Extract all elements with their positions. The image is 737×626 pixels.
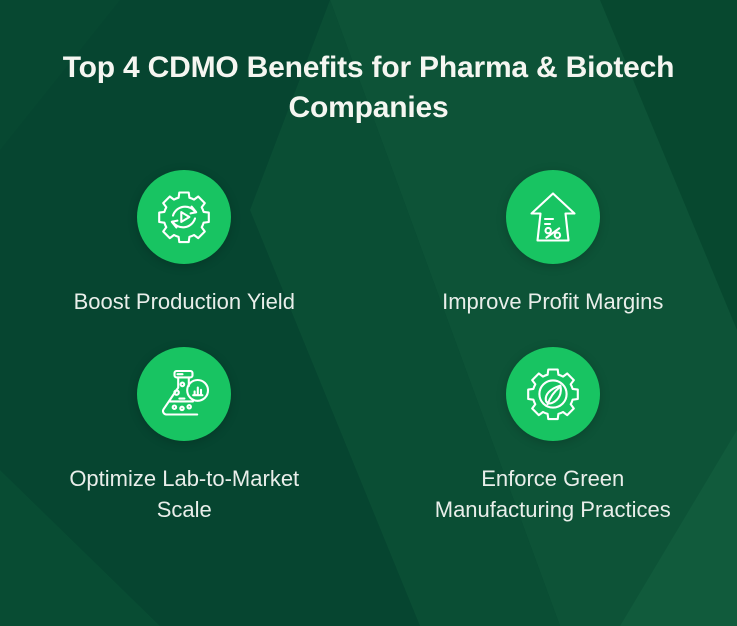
up-arrow-percent-icon — [524, 188, 582, 246]
flask-bar-chart-icon — [155, 365, 213, 423]
gear-refresh-play-icon — [155, 188, 213, 246]
benefit-label: Improve Profit Margins — [442, 286, 663, 317]
benefit-item-optimize-lab-to-market-scale[interactable]: Optimize Lab-to-Market Scale — [0, 347, 369, 525]
title-block: Top 4 CDMO Benefits for Pharma & Biotech… — [0, 48, 737, 128]
page-title: Top 4 CDMO Benefits for Pharma & Biotech… — [60, 48, 677, 128]
benefits-grid: Boost Production Yield Improve Profit Ma… — [0, 170, 737, 526]
icon-badge — [506, 347, 600, 441]
infographic-canvas: Top 4 CDMO Benefits for Pharma & Biotech… — [0, 0, 737, 626]
icon-badge — [506, 170, 600, 264]
gear-leaf-icon — [524, 365, 582, 423]
icon-badge — [137, 347, 231, 441]
benefit-item-improve-profit-margins[interactable]: Improve Profit Margins — [369, 170, 737, 317]
benefit-label: Boost Production Yield — [74, 286, 295, 317]
benefit-item-boost-production-yield[interactable]: Boost Production Yield — [0, 170, 369, 317]
benefit-item-enforce-green-manufacturing-practices[interactable]: Enforce Green Manufacturing Practices — [369, 347, 737, 525]
benefit-label: Optimize Lab-to-Market Scale — [44, 463, 324, 525]
icon-badge — [137, 170, 231, 264]
benefit-label: Enforce Green Manufacturing Practices — [413, 463, 693, 525]
